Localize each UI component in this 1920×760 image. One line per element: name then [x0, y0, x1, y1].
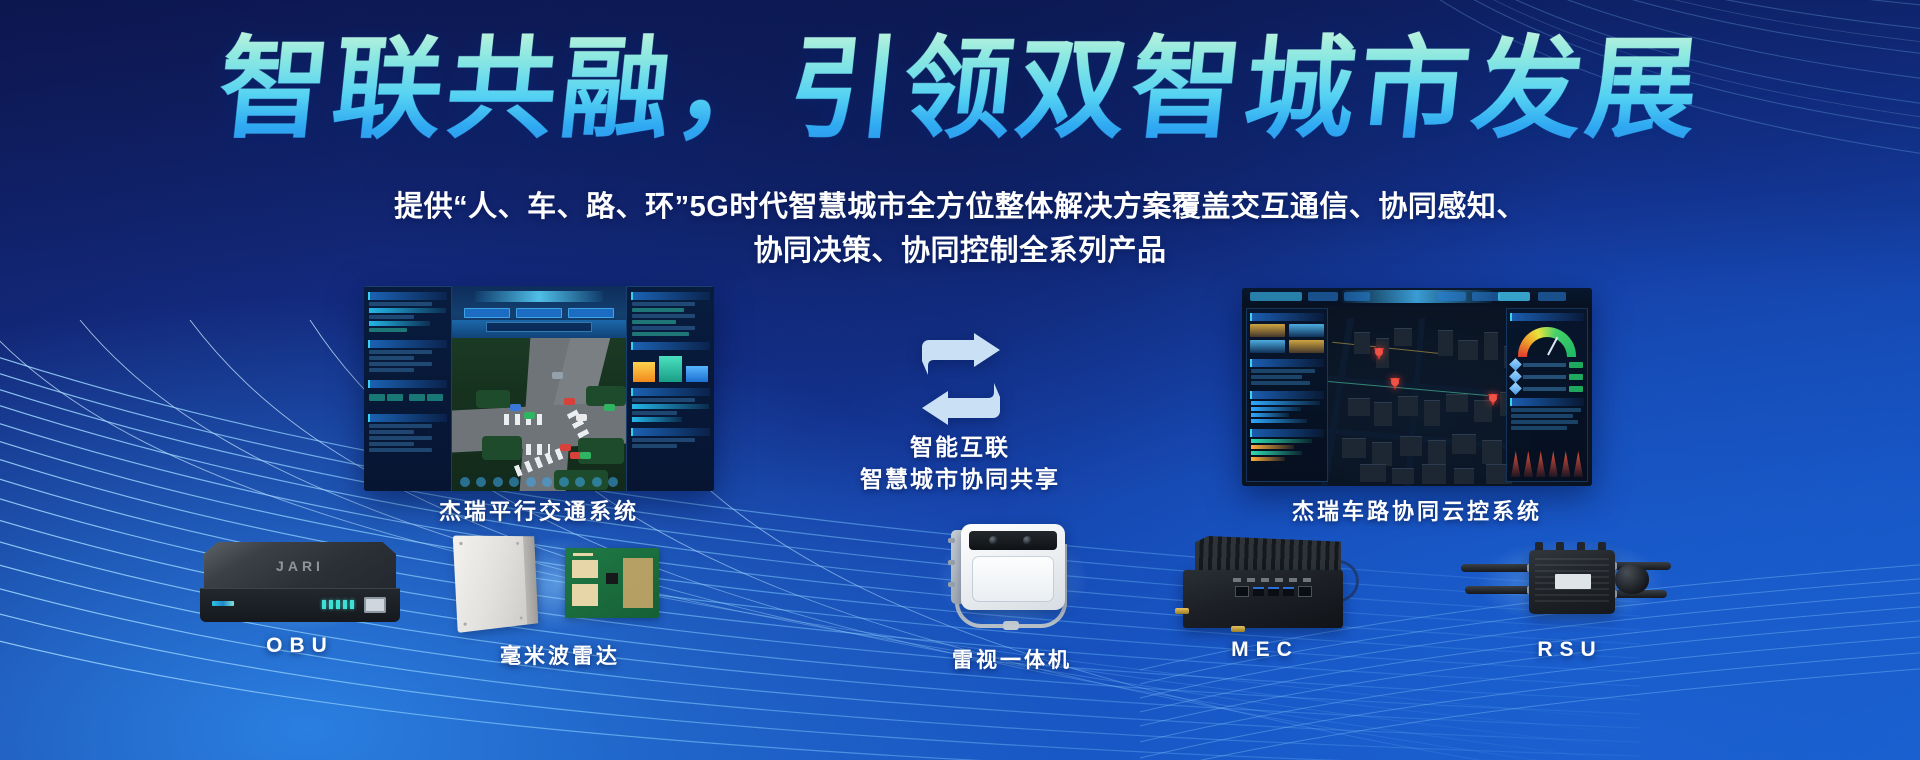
product-item-radar[interactable]: 毫米波雷达: [430, 534, 690, 670]
page-title: 智联共融，引领双智城市发展: [0, 28, 1920, 151]
product-row: JARI OBU: [0, 556, 1920, 756]
dashboard-left-panel: [364, 286, 452, 491]
cloud-control-dashboard-image[interactable]: [1242, 288, 1592, 486]
dashboard-caption-left: 杰瑞平行交通系统: [359, 494, 719, 526]
dashboard-stats-panel: [1246, 308, 1328, 482]
subtitle-line-2: 协同决策、协同控制全系列产品: [260, 230, 1660, 274]
product-item-obu[interactable]: JARI OBU: [180, 542, 420, 658]
obu-device-icon: JARI: [180, 542, 420, 628]
product-item-camera[interactable]: 雷视一体机: [912, 518, 1112, 674]
city-map-3d-icon: [1242, 288, 1592, 486]
camera-lens-icon: [989, 536, 998, 545]
dashboard-caption-right: 杰瑞车路协同云控系统: [1237, 494, 1597, 526]
subtitle-line-1: 提供“人、车、路、环”5G时代智慧城市全方位整体解决方案覆盖交互通信、协同感知、: [260, 186, 1660, 230]
product-item-mec[interactable]: MEC: [1155, 536, 1375, 662]
product-item-rsu[interactable]: RSU: [1440, 532, 1700, 662]
dashboard-tab-buttons[interactable]: [464, 308, 614, 318]
dashboard-search-input[interactable]: [486, 322, 592, 332]
dashboard-right-panel: [626, 286, 714, 491]
map-marker-icon[interactable]: [1390, 378, 1400, 390]
dashboard-gauge-panel: [1506, 308, 1588, 482]
product-label-radar: 毫米波雷达: [430, 640, 690, 670]
dashboard-top-bar: [1242, 288, 1592, 306]
dashboard-toolbar[interactable]: [460, 476, 618, 488]
mec-server-icon: [1155, 536, 1375, 632]
mmwave-radar-icon: [430, 534, 690, 634]
banner-stage: 智联共融，引领双智城市发展 提供“人、车、路、环”5G时代智慧城市全方位整体解决…: [0, 0, 1920, 760]
product-label-camera: 雷视一体机: [912, 644, 1112, 674]
center-caption: 智能互联 智慧城市协同共享: [740, 432, 1180, 495]
page-subtitle: 提供“人、车、路、环”5G时代智慧城市全方位整体解决方案覆盖交互通信、协同感知、…: [260, 186, 1660, 273]
dashboard-title-bar: [475, 291, 603, 302]
antenna-rod-icon: [1465, 586, 1535, 594]
antenna-rod-icon: [1461, 564, 1535, 572]
center-caption-line-2: 智慧城市协同共享: [740, 464, 1180, 496]
map-marker-icon[interactable]: [1374, 348, 1384, 360]
radar-vision-unit-icon: [912, 518, 1112, 638]
obu-brand-logo: JARI: [276, 558, 324, 574]
product-label-rsu: RSU: [1440, 638, 1700, 662]
center-caption-line-1: 智能互联: [740, 432, 1180, 464]
traffic-intersection-3d-icon: [364, 286, 714, 491]
camera-lens-icon: [1023, 536, 1032, 545]
map-marker-icon[interactable]: [1488, 394, 1498, 406]
product-label-obu: OBU: [180, 634, 420, 658]
performance-gauge-icon: [1518, 327, 1576, 357]
parallel-traffic-dashboard-image[interactable]: [364, 286, 714, 491]
dome-antenna-icon: [1615, 564, 1649, 594]
exchange-arrows-icon: [918, 333, 1004, 425]
rsu-antenna-icon: [1440, 532, 1700, 632]
product-label-mec: MEC: [1155, 638, 1375, 662]
spike-chart: [1511, 451, 1583, 477]
